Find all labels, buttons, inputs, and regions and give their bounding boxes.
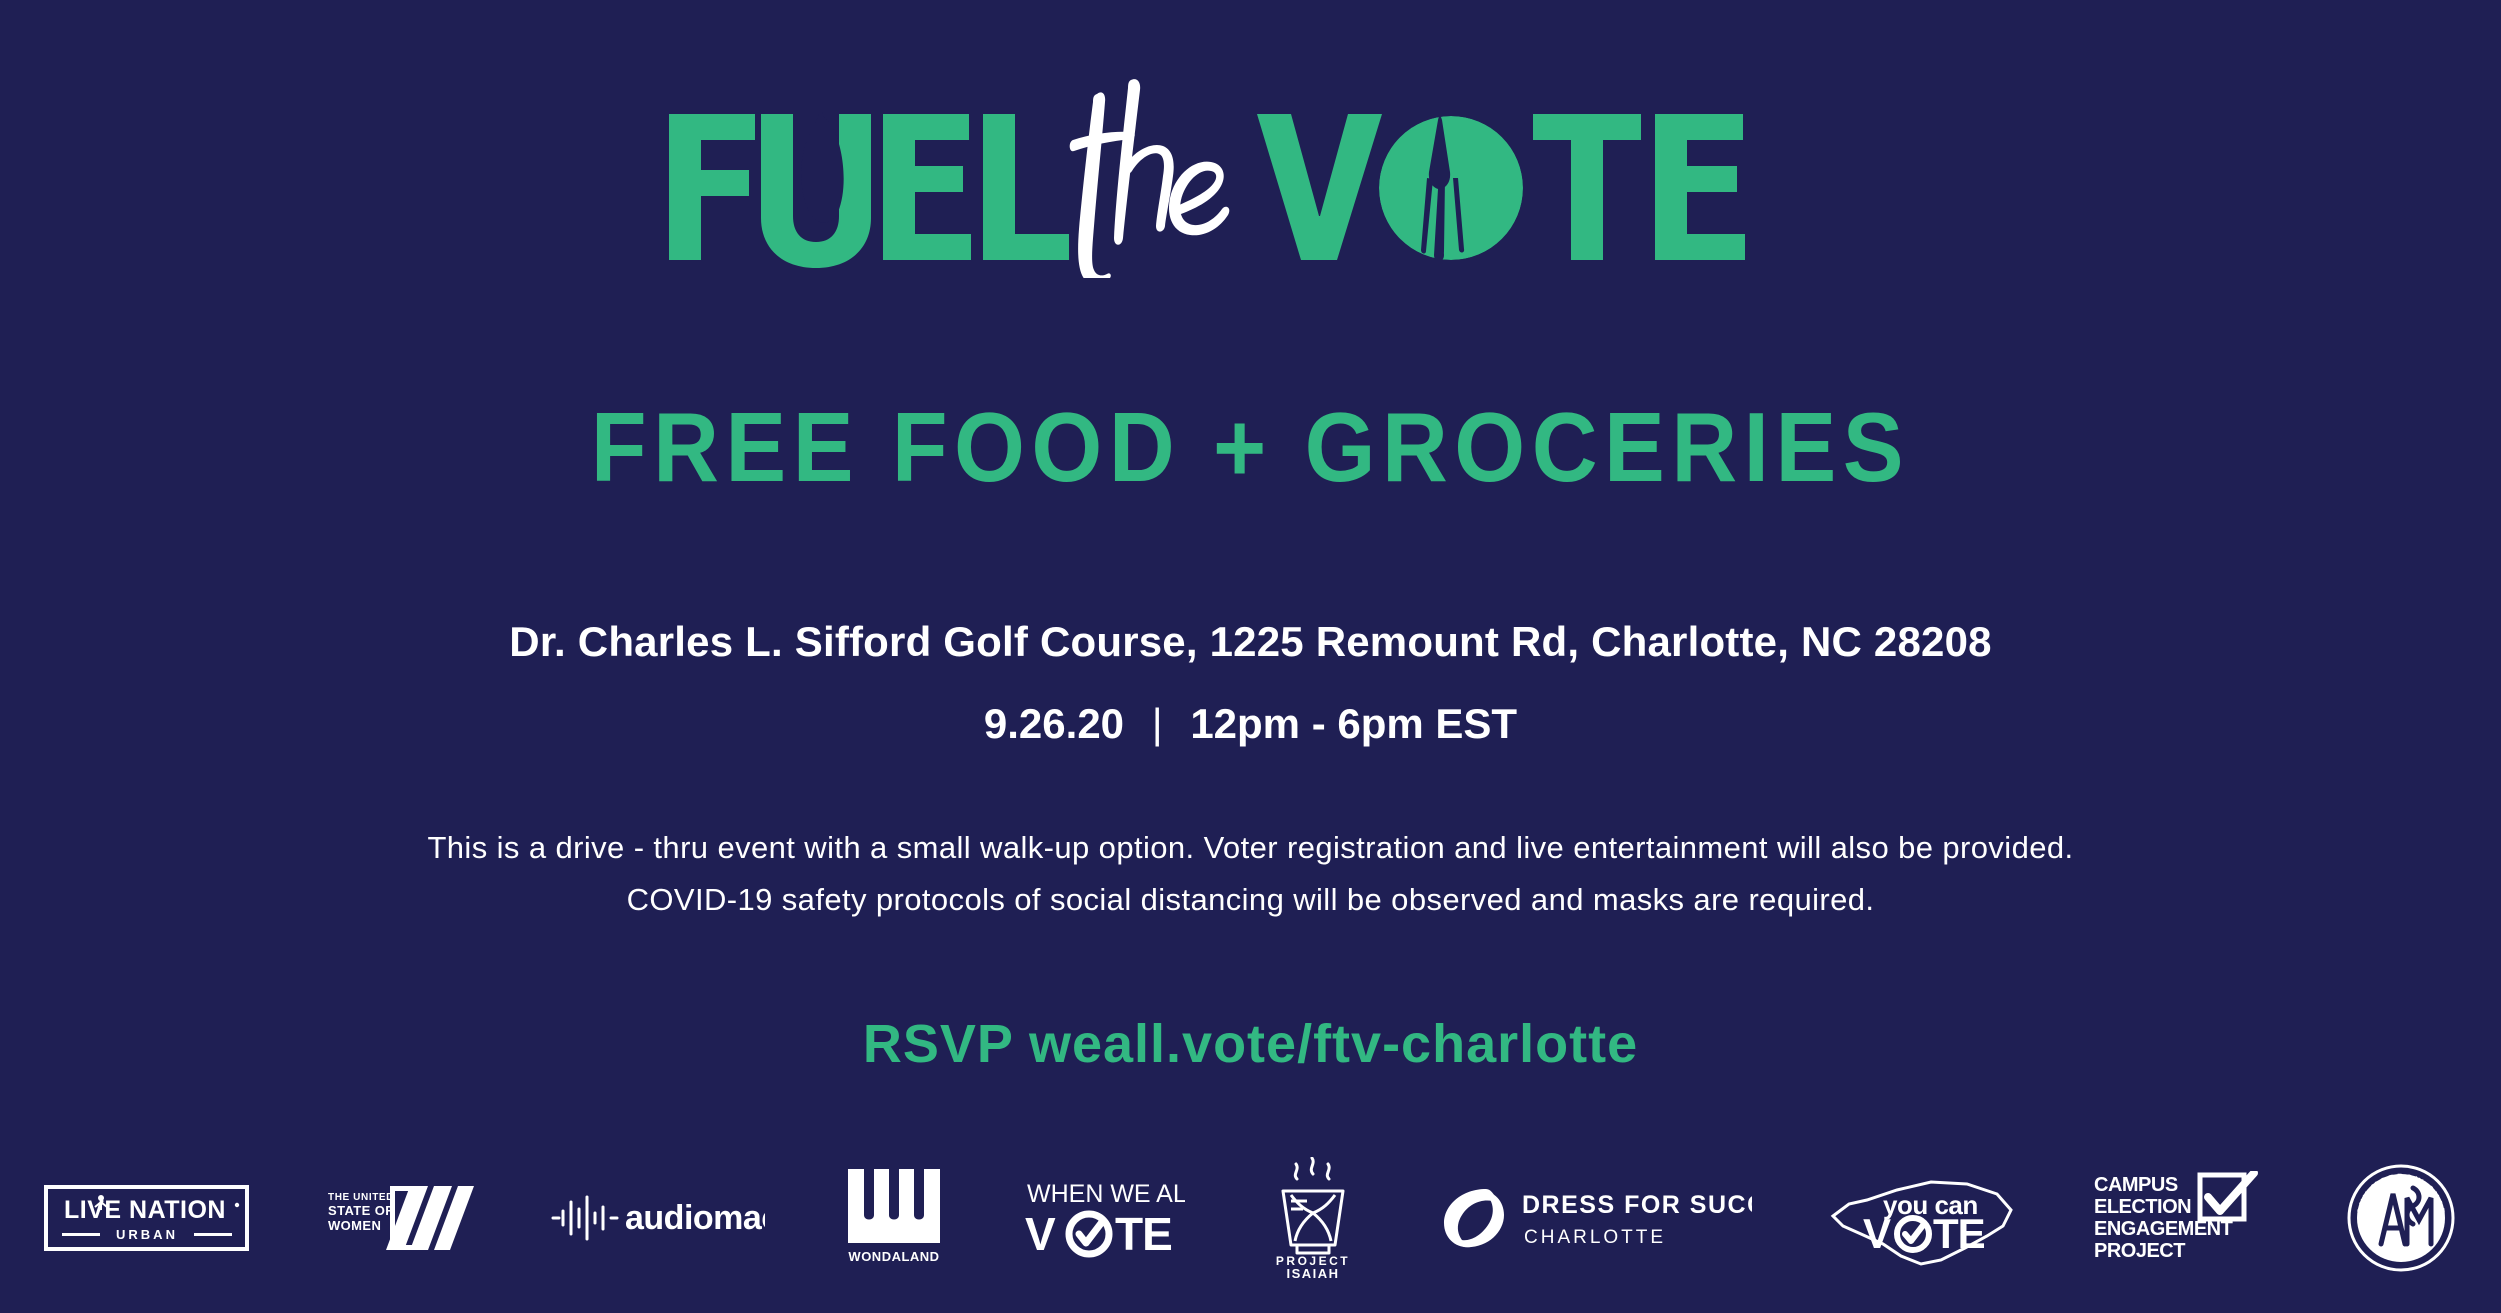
sponsor-line-women: WOMEN [328, 1218, 381, 1233]
sponsor-sub-charlotte: CHARLOTTE [1524, 1227, 1666, 1248]
sponsor-line-when-we-all: WHEN WE ALL [1027, 1180, 1185, 1208]
sponsor-logo-anthony-morrow-charities: ANTHONY MORROW CHARITIES [2345, 1158, 2457, 1278]
sponsor-logo-wondaland: WONDALAND [840, 1158, 948, 1278]
sponsor-logo-you-can-vote: you can V TE [1827, 1158, 2017, 1278]
logo-script-the [1069, 79, 1229, 278]
steam-icon [1295, 1158, 1329, 1179]
sponsor-line-project: PROJECT [2094, 1240, 2185, 1262]
sponsor-logo-audiomack: audiomack [549, 1158, 765, 1278]
waveform-icon [553, 1197, 617, 1239]
sponsor-line-state-of: STATE OF [328, 1203, 394, 1218]
venue-address: Dr. Charles L. Sifford Golf Course, 1225… [0, 618, 2501, 666]
svg-text:TE: TE [1115, 1208, 1172, 1260]
description-line-1: This is a drive - thru event with a smal… [0, 822, 2501, 874]
sponsor-logo-strip: LIVE NATION URBAN THE UNITED STATE OF WO… [0, 1150, 2501, 1285]
sponsor-logo-live-nation-urban: LIVE NATION URBAN [44, 1158, 249, 1278]
sponsor-logo-project-isaiah: PROJECT ISAIAH [1261, 1158, 1365, 1278]
description-line-2: COVID-19 safety protocols of social dist… [0, 874, 2501, 926]
check-circle-icon [1069, 1214, 1109, 1254]
event-time: 12pm - 6pm EST [1190, 700, 1517, 747]
event-datetime: 9.26.20 | 12pm - 6pm EST [0, 700, 2501, 748]
logo-word-vote [1257, 114, 1745, 260]
checkbox-icon [2200, 1173, 2254, 1219]
sponsor-logo-when-we-all-vote: WHEN WE ALL V TE [1023, 1158, 1185, 1278]
rsvp-link[interactable]: RSVP weall.vote/ftv-charlotte [0, 1013, 2501, 1075]
sponsor-line-election: ELECTION [2094, 1196, 2191, 1218]
svg-text:V: V [1863, 1210, 1891, 1257]
svg-text:TE: TE [1933, 1210, 1985, 1257]
check-circle-icon [1897, 1218, 1929, 1250]
sponsor-name-wondaland: WONDALAND [849, 1249, 940, 1264]
sponsor-logo-dress-for-success: DRESS FOR SUCCESS CHARLOTTE [1440, 1158, 1752, 1278]
sponsor-logo-campus-election-engagement-project: CAMPUS ELECTION ENGAGEMENT PROJECT [2092, 1158, 2270, 1278]
event-date: 9.26.20 [984, 700, 1124, 747]
hands-bowl-icon [1283, 1191, 1343, 1253]
fuel-the-vote-logo: FUEL the VOTE [0, 78, 2501, 278]
sponsor-logo-united-state-of-women: THE UNITED STATE OF WOMEN [324, 1158, 474, 1278]
sponsor-line-isaiah: ISAIAH [1286, 1266, 1339, 1279]
svg-text:V: V [1025, 1208, 1056, 1260]
sponsor-line-campus: CAMPUS [2094, 1174, 2178, 1196]
sponsor-name-dress-for-success: DRESS FOR SUCCESS [1522, 1191, 1752, 1219]
sponsor-name-audiomack: audiomack [625, 1199, 765, 1237]
event-description: This is a drive - thru event with a smal… [0, 822, 2501, 926]
sponsor-name-live-nation: LIVE NATION [64, 1196, 226, 1224]
sponsor-line-the-united: THE UNITED [328, 1192, 394, 1203]
logo-word-fuel [669, 112, 1069, 268]
page-title: FREE FOOD + GROCERIES [88, 398, 2414, 496]
sponsor-sub-urban: URBAN [116, 1227, 178, 1242]
datetime-separator: | [1136, 700, 1179, 748]
swirl-icon [1444, 1189, 1504, 1247]
